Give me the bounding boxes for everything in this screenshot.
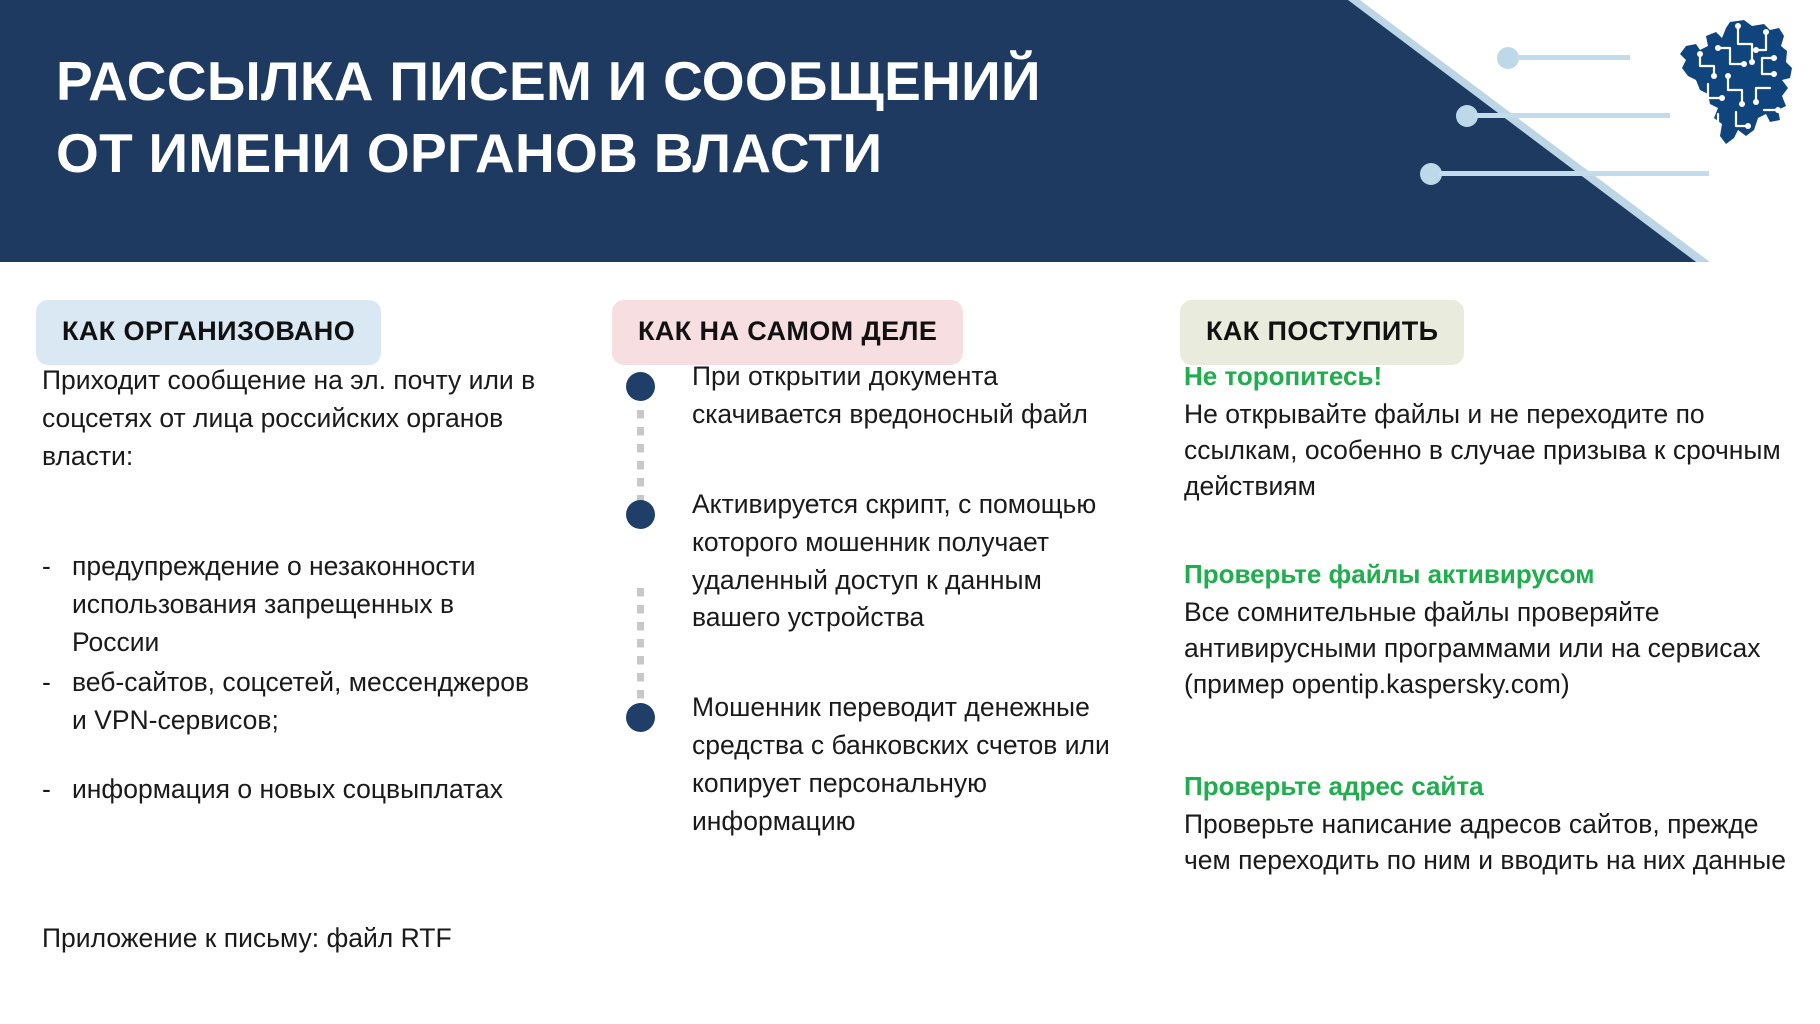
action-heading: Проверьте файлы активирусом	[1184, 558, 1800, 592]
column-action: КАК ПОСТУПИТЬ Не торопитесь! Не открывай…	[1180, 300, 1792, 365]
timeline-bullet	[626, 372, 655, 401]
action-heading: Не торопитесь!	[1184, 360, 1800, 394]
timeline-step-text: Мошенник переводит денежные средства с б…	[692, 689, 1132, 841]
page-title-line-2: ОТ ИМЕНИ ОРГАНОВ ВЛАСТИ	[56, 118, 1256, 190]
column-reality: КАК НА САМОМ ДЕЛЕ При открытии документа…	[612, 300, 1132, 365]
action-body: Все сомнительные файлы проверяйте антиви…	[1184, 594, 1800, 702]
action-block: Проверьте файлы активирусом Все сомнител…	[1184, 558, 1800, 702]
page-title-line-1: РАССЫЛКА ПИСЕМ И СООБЩЕНИЙ	[56, 46, 1256, 118]
list-item-text: веб-сайтов, соцсетей, мессенджеров и VPN…	[72, 664, 542, 740]
organized-intro: Приходит сообщение на эл. почту или в со…	[42, 362, 542, 476]
timeline-step: Мошенник переводит денежные средства с б…	[612, 689, 1132, 841]
list-item-text: информация о новых соцвыплатах	[72, 771, 542, 809]
dash-marker: -	[42, 548, 72, 662]
column-organized: КАК ОРГАНИЗОВАНО Приходит сообщение на э…	[36, 300, 536, 365]
timeline-step-text: При открытии документа скачивается вредо…	[692, 358, 1132, 434]
list-spacer	[42, 741, 542, 771]
action-body: Не открывайте файлы и не переходите по с…	[1184, 396, 1800, 504]
list-item: - веб-сайтов, соцсетей, мессенджеров и V…	[42, 664, 542, 740]
timeline-step: Активируется скрипт, с помощью которого …	[612, 486, 1132, 638]
badge-organized: КАК ОРГАНИЗОВАНО	[36, 300, 381, 365]
badge-action: КАК ПОСТУПИТЬ	[1180, 300, 1464, 365]
dash-marker: -	[42, 771, 72, 809]
connector-line-1	[1516, 55, 1630, 60]
reality-timeline: При открытии документа скачивается вредо…	[612, 358, 1132, 841]
region-map-circuit-logo	[1678, 18, 1798, 154]
action-block: Не торопитесь! Не открывайте файлы и не …	[1184, 360, 1800, 504]
badge-reality: КАК НА САМОМ ДЕЛЕ	[612, 300, 963, 365]
connector-line-3	[1439, 171, 1709, 176]
organized-footer: Приложение к письму: файл RTF	[42, 920, 542, 958]
action-body: Проверьте написание адресов сайтов, преж…	[1184, 806, 1800, 878]
timeline-bullet	[626, 703, 655, 732]
list-item: - информация о новых соцвыплатах	[42, 771, 542, 809]
action-heading: Проверьте адрес сайта	[1184, 770, 1800, 804]
timeline-bullet	[626, 500, 655, 529]
organized-list: - предупреждение о незаконности использо…	[42, 548, 542, 811]
timeline-step: При открытии документа скачивается вредо…	[612, 358, 1132, 434]
list-item: - предупреждение о незаконности использо…	[42, 548, 542, 662]
page-title: РАССЫЛКА ПИСЕМ И СООБЩЕНИЙ ОТ ИМЕНИ ОРГА…	[56, 46, 1256, 189]
page-header: РАССЫЛКА ПИСЕМ И СООБЩЕНИЙ ОТ ИМЕНИ ОРГА…	[0, 0, 1820, 262]
timeline-step-text: Активируется скрипт, с помощью которого …	[692, 486, 1132, 638]
connector-line-2	[1475, 113, 1670, 118]
dash-marker: -	[42, 664, 72, 740]
action-block: Проверьте адрес сайта Проверьте написани…	[1184, 770, 1800, 878]
list-item-text: предупреждение о незаконности использова…	[72, 548, 542, 662]
